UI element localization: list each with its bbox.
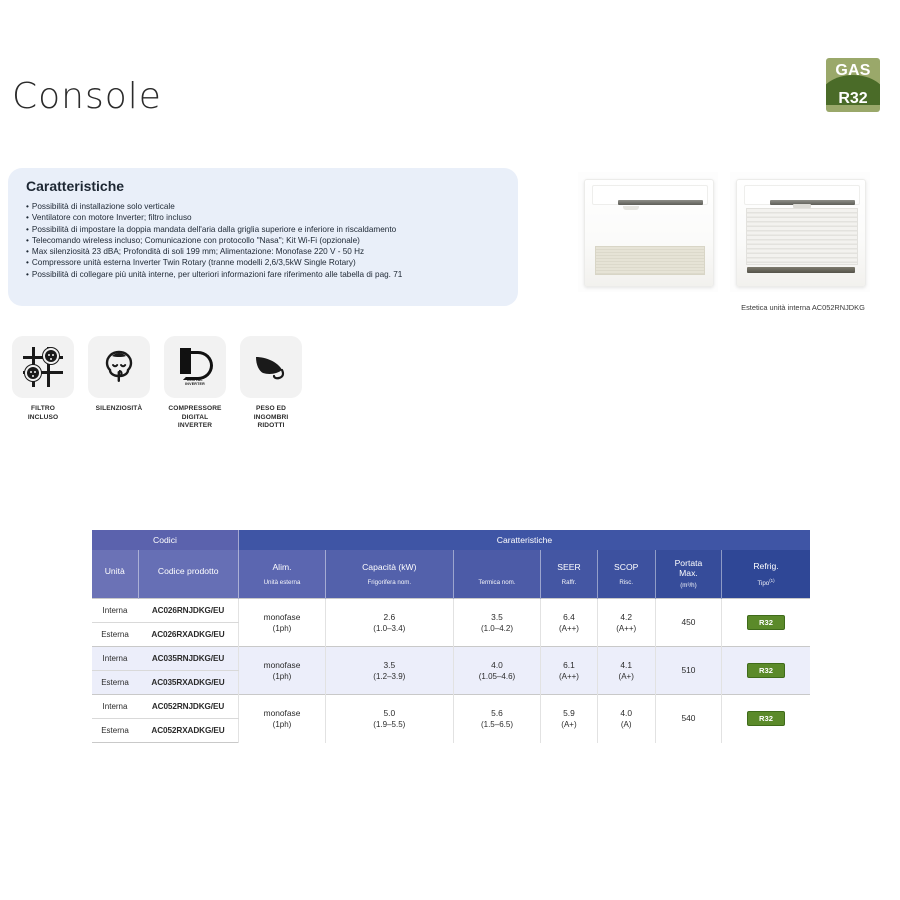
filter-icon <box>23 347 63 387</box>
col-header-scop: SCOP Risc. <box>597 550 655 599</box>
feature-text: Telecomando wireless incluso; Comunicazi… <box>32 236 360 245</box>
feature-text: Compressore unità esterna Inverter Twin … <box>32 258 356 267</box>
col-header-portata-max: Portata Max. (m³/h) <box>655 550 721 599</box>
cell-code-interna: AC035RNJDKG/EU <box>138 647 239 671</box>
col-header-codice-prodotto: Codice prodotto <box>138 550 239 599</box>
col-header-refrigerante: Refrig. Tipo(1) <box>721 550 810 599</box>
page-title: Console <box>12 76 162 117</box>
col-header-alimentazione: Alim. Unità esterna <box>239 550 326 599</box>
cell-code-interna: AC026RNJDKG/EU <box>138 599 239 623</box>
icon-tile: DIGITAL INVERTER <box>164 336 226 398</box>
feature-icon-digital-inverter: DIGITAL INVERTER COMPRESSORE DIGITAL INV… <box>164 336 226 431</box>
cell-seer: 5.9 (A+) <box>541 695 597 743</box>
icon-caption: COMPRESSORE DIGITAL INVERTER <box>164 405 226 431</box>
cell-seer: 6.4 (A++) <box>541 599 597 647</box>
bullet-icon: • <box>26 258 29 267</box>
table-body: Interna AC026RNJDKG/EU monofase (1ph) 2.… <box>92 599 810 743</box>
cell-alimentazione: monofase (1ph) <box>239 695 326 743</box>
bullet-icon: • <box>26 270 29 279</box>
icon-tile <box>12 336 74 398</box>
feature-text: Possibilità di installazione solo vertic… <box>32 202 175 211</box>
cell-seer: 6.1 (A++) <box>541 647 597 695</box>
col-header-seer: SEER Raffr. <box>541 550 597 599</box>
features-title: Caratteristiche <box>26 178 124 194</box>
unit-body <box>736 179 867 287</box>
silence-baby-icon <box>99 347 139 387</box>
icon-caption: SILENZIOSITÀ <box>88 405 150 414</box>
specification-table: Codici Caratteristiche Unità Codice prod… <box>92 530 810 743</box>
feature-text: Possibilità di collegare più unità inter… <box>32 270 402 279</box>
capacita-header: Capacità (kW) <box>326 562 453 572</box>
table-group-header-row: Codici Caratteristiche <box>92 530 810 550</box>
cell-termica: 5.6 (1.5–6.5) <box>453 695 541 743</box>
product-photo-console-grille <box>730 172 870 292</box>
unit-lower-grille <box>595 246 705 275</box>
feature-icon-lightweight: PESO ED INGOMBRI RIDOTTI <box>240 336 302 431</box>
table-row: Interna AC052RNJDKG/EU monofase (1ph) 5.… <box>92 695 810 719</box>
cell-termica: 4.0 (1.05–4.6) <box>453 647 541 695</box>
unit-front-grille <box>746 208 859 265</box>
cell-code-interna: AC052RNJDKG/EU <box>138 695 239 719</box>
cell-portata: 510 <box>655 647 721 695</box>
gas-r32-badge: GAS R32 <box>826 58 880 112</box>
unit-body <box>584 179 715 287</box>
icon-caption: FILTRO INCLUSO <box>12 405 74 422</box>
bullet-icon: • <box>26 236 29 245</box>
refrigerant-badge: R32 <box>747 663 785 678</box>
features-list: •Possibilità di installazione solo verti… <box>26 201 508 280</box>
feature-icon-silence: SILENZIOSITÀ <box>88 336 150 414</box>
unit-tab <box>623 206 638 210</box>
bullet-icon: • <box>26 225 29 234</box>
cell-alimentazione: monofase (1ph) <box>239 647 326 695</box>
feature-item: •Compressore unità esterna Inverter Twin… <box>26 257 508 268</box>
feature-item: •Ventilatore con motore Inverter; filtro… <box>26 212 508 223</box>
cell-frigorifera: 5.0 (1.9–5.5) <box>326 695 454 743</box>
cell-refrigerante: R32 <box>721 647 810 695</box>
cell-frigorifera: 2.6 (1.0–3.4) <box>326 599 454 647</box>
cell-portata: 540 <box>655 695 721 743</box>
photo-caption: Estetica unità interna AC052RNJDKG <box>718 303 888 312</box>
feature-text: Possibilità di impostare la doppia manda… <box>32 225 396 234</box>
cell-refrigerante: R32 <box>721 599 810 647</box>
table-head: Codici Caratteristiche Unità Codice prod… <box>92 530 810 599</box>
col-header-unita: Unità <box>92 550 138 599</box>
feature-item: •Telecomando wireless incluso; Comunicaz… <box>26 235 508 246</box>
footnote-marker: (1) <box>769 578 774 583</box>
unit-top-bar <box>770 200 855 205</box>
cell-code-esterna: AC035RXADKG/EU <box>138 671 239 695</box>
icon-tile <box>240 336 302 398</box>
cell-code-esterna: AC026RXADKG/EU <box>138 623 239 647</box>
cell-scop: 4.1 (A+) <box>597 647 655 695</box>
cell-unita-interna: Interna <box>92 599 138 623</box>
bullet-icon: • <box>26 213 29 222</box>
unit-bottom-bar <box>747 267 855 273</box>
cell-termica: 3.5 (1.0–4.2) <box>453 599 541 647</box>
bullet-icon: • <box>26 202 29 211</box>
cell-scop: 4.2 (A++) <box>597 599 655 647</box>
table-column-header-row: Unità Codice prodotto Alim. Unità estern… <box>92 550 810 599</box>
cell-unita-interna: Interna <box>92 695 138 719</box>
cell-unita-esterna: Esterna <box>92 719 138 743</box>
feather-weight-icon <box>250 350 292 384</box>
cell-refrigerante: R32 <box>721 695 810 743</box>
cell-code-esterna: AC052RXADKG/EU <box>138 719 239 743</box>
feature-item: •Possibilità di impostare la doppia mand… <box>26 224 508 235</box>
features-panel: Caratteristiche •Possibilità di installa… <box>8 168 518 306</box>
table-row: Interna AC026RNJDKG/EU monofase (1ph) 2.… <box>92 599 810 623</box>
feature-text: Max silenziosità 23 dBA; Profondità di s… <box>32 247 364 256</box>
icon-caption: PESO ED INGOMBRI RIDOTTI <box>240 405 302 431</box>
table-row: Interna AC035RNJDKG/EU monofase (1ph) 3.… <box>92 647 810 671</box>
group-header-caratteristiche: Caratteristiche <box>239 530 811 550</box>
unit-top-bar <box>618 200 703 205</box>
bullet-icon: • <box>26 247 29 256</box>
col-header-termica-nom: Termica nom. <box>453 550 541 599</box>
feature-icon-filter: FILTRO INCLUSO <box>12 336 74 422</box>
cell-scop: 4.0 (A) <box>597 695 655 743</box>
cell-portata: 450 <box>655 599 721 647</box>
feature-text: Ventilatore con motore Inverter; filtro … <box>32 213 192 222</box>
group-header-codici: Codici <box>92 530 239 550</box>
cell-unita-esterna: Esterna <box>92 623 138 647</box>
refrigerant-badge: R32 <box>747 615 785 630</box>
cell-unita-esterna: Esterna <box>92 671 138 695</box>
refrigerant-label: R32 <box>826 86 880 112</box>
cell-alimentazione: monofase (1ph) <box>239 599 326 647</box>
feature-item: •Possibilità di collegare più unità inte… <box>26 269 508 280</box>
refrigerant-badge: R32 <box>747 711 785 726</box>
digital-inverter-logo-text: DIGITAL INVERTER <box>177 378 213 386</box>
icon-tile <box>88 336 150 398</box>
feature-item: •Possibilità di installazione solo verti… <box>26 201 508 212</box>
digital-inverter-icon: DIGITAL INVERTER <box>177 348 213 386</box>
cell-frigorifera: 3.5 (1.2–3.9) <box>326 647 454 695</box>
cell-unita-interna: Interna <box>92 647 138 671</box>
col-header-frigorifera-nom: Capacità (kW) Frigorifera nom. <box>326 550 454 599</box>
feature-item: •Max silenziosità 23 dBA; Profondità di … <box>26 246 508 257</box>
product-photo-console-closed <box>578 172 718 292</box>
